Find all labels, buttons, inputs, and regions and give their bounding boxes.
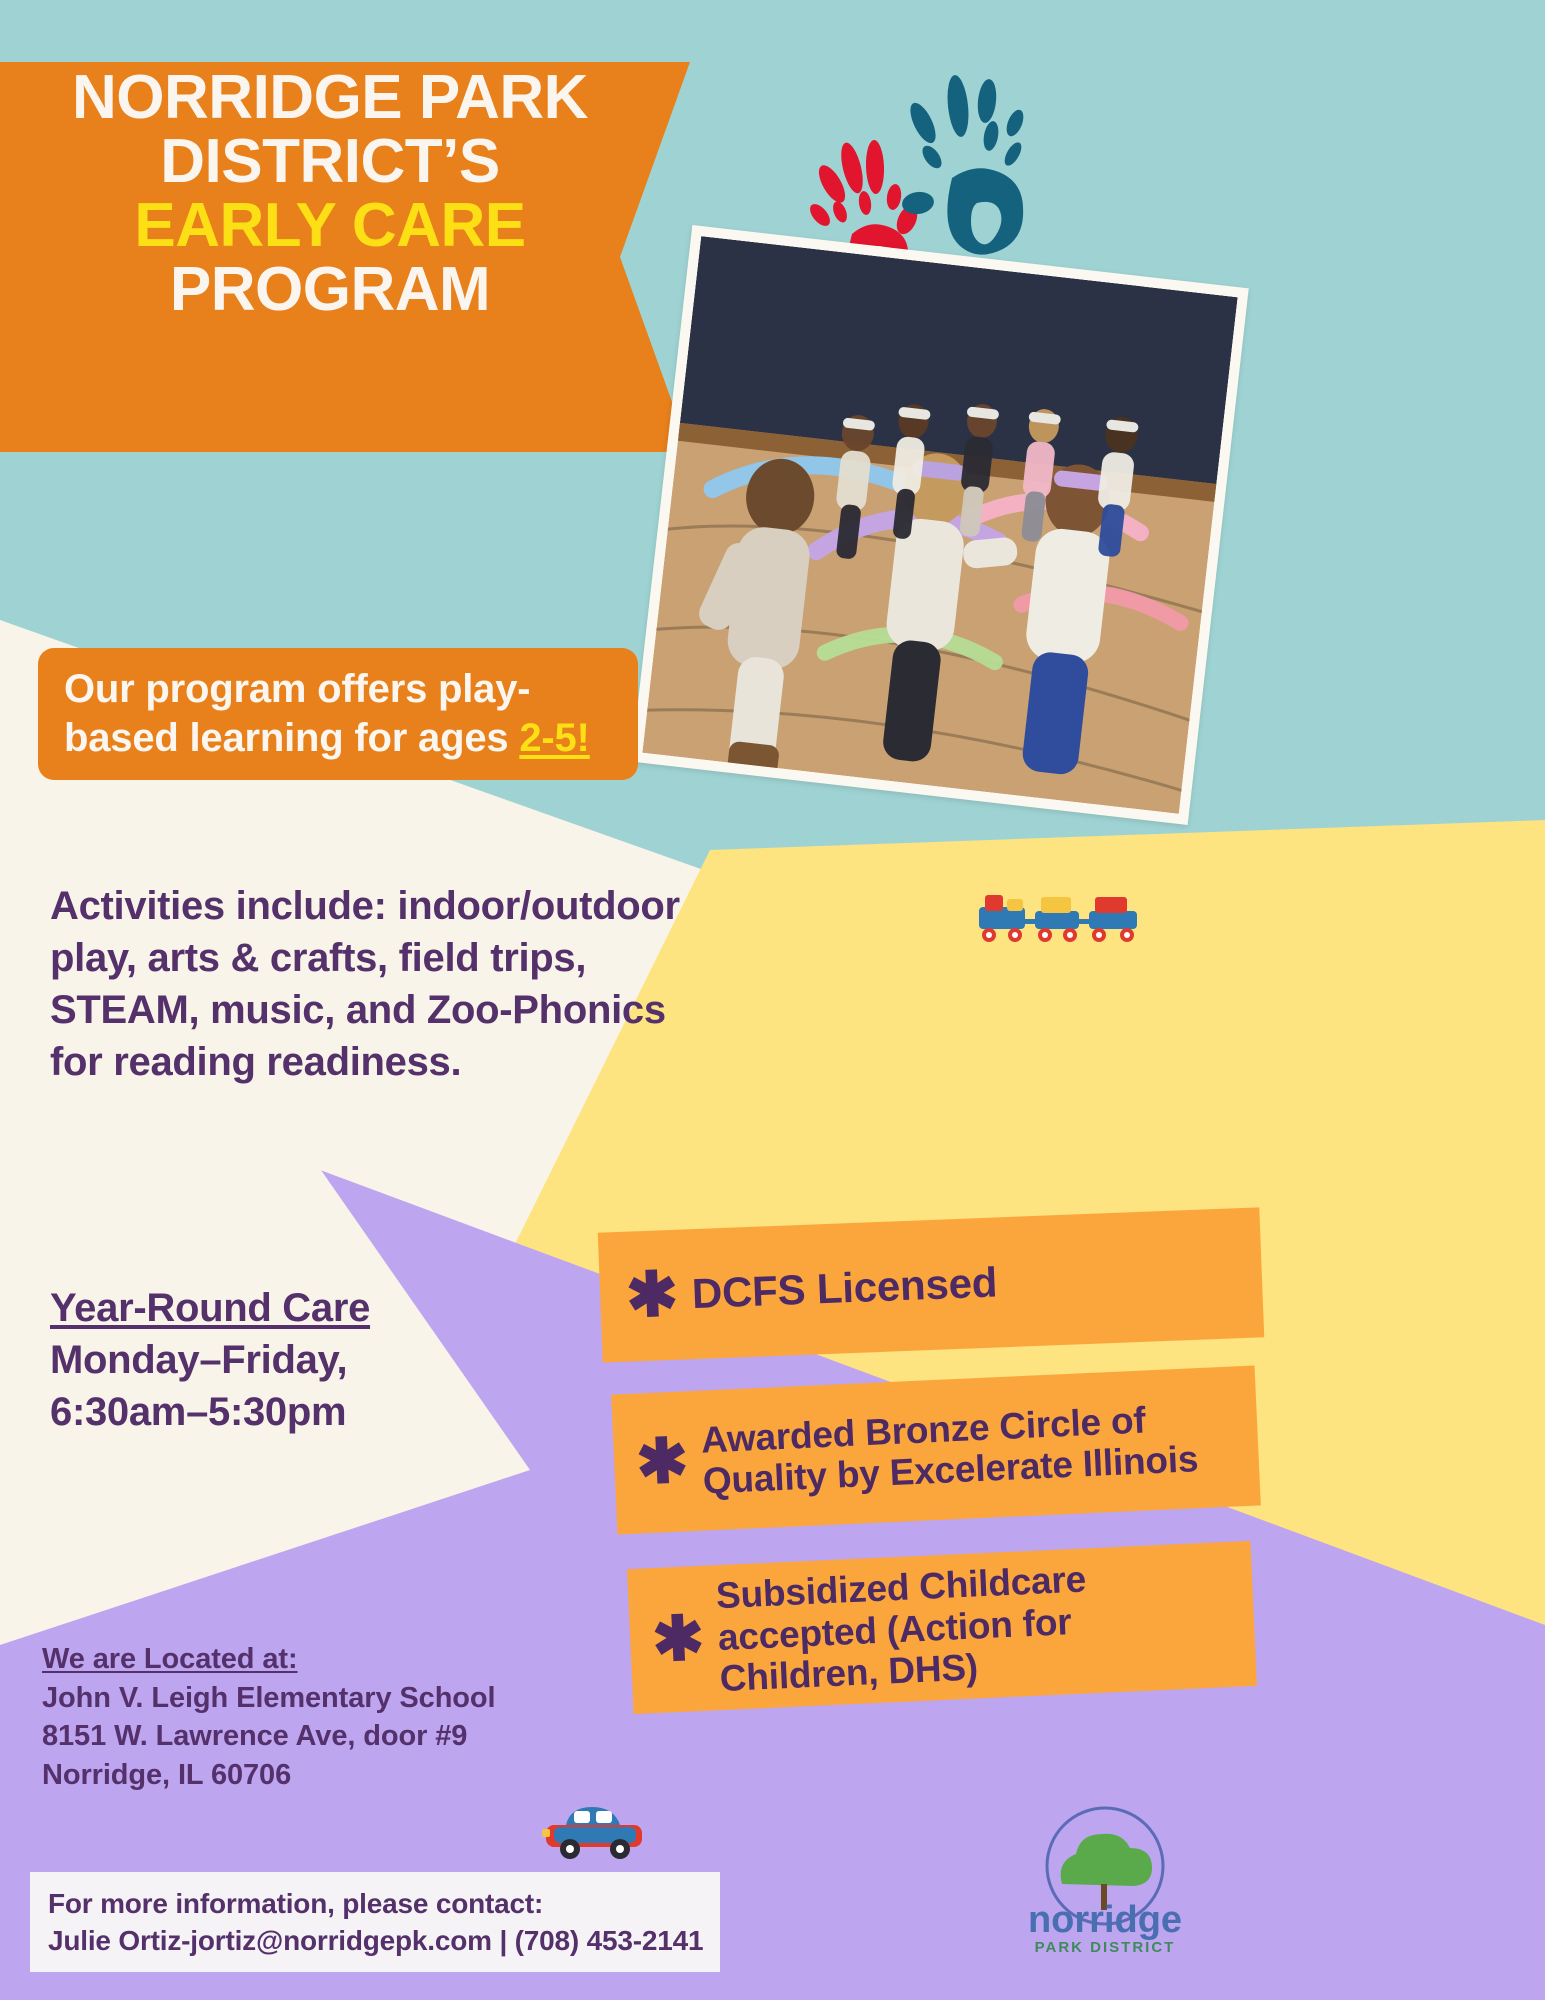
- location-line-1: John V. Leigh Elementary School: [42, 1682, 496, 1714]
- activities-paragraph: Activities include: indoor/outdoor play,…: [50, 880, 710, 1088]
- hours-times: 6:30am–5:30pm: [50, 1390, 346, 1434]
- callout-age-range: 2-5!: [519, 716, 589, 760]
- toy-train-icon: [975, 885, 1185, 945]
- asterisk-icon: ✱: [635, 1443, 688, 1482]
- page-title: NORRIDGE PARK DISTRICT’S EARLY CARE PROG…: [0, 66, 660, 321]
- location-block: We are Located at: John V. Leigh Element…: [42, 1640, 562, 1794]
- contact-bar: For more information, please contact: Ju…: [30, 1872, 720, 1972]
- contact-line-1: For more information, please contact:: [48, 1885, 720, 1922]
- logo-subtitle: PARK DISTRICT: [1035, 1939, 1176, 1956]
- badge-bronze-circle: ✱ Awarded Bronze Circle of Quality by Ex…: [611, 1365, 1261, 1534]
- asterisk-icon: ✱: [651, 1620, 704, 1659]
- location-line-2: 8151 W. Lawrence Ave, door #9: [42, 1720, 467, 1752]
- norridge-park-district-logo: norridge PARK DISTRICT: [1000, 1800, 1210, 1960]
- hours-block: Year-Round Care Monday–Friday, 6:30am–5:…: [50, 1282, 570, 1438]
- title-line-2: DISTRICT’S: [0, 130, 660, 194]
- callout-text: Our program offers play-based learning f…: [38, 665, 638, 763]
- contact-line-2: Julie Ortiz-jortiz@norridgepk.com | (708…: [48, 1922, 720, 1959]
- badge-label: Subsidized Childcare accepted (Action fo…: [715, 1552, 1234, 1700]
- location-title: We are Located at:: [42, 1640, 562, 1679]
- location-line-3: Norridge, IL 60706: [42, 1759, 291, 1791]
- children-playing-photo: [631, 225, 1249, 825]
- title-line-1: NORRIDGE PARK: [0, 66, 660, 130]
- hours-days: Monday–Friday,: [50, 1338, 347, 1382]
- hours-title: Year-Round Care: [50, 1282, 570, 1334]
- title-line-4: PROGRAM: [0, 258, 660, 322]
- badge-label: DCFS Licensed: [691, 1259, 998, 1317]
- callout-main: Our program offers play-based learning f…: [64, 667, 530, 760]
- toy-car-icon: [540, 1795, 650, 1865]
- logo-name: norridge: [1028, 1899, 1182, 1941]
- badge-label: Awarded Bronze Circle of Quality by Exce…: [700, 1395, 1237, 1502]
- badge-dcfs-licensed: ✱ DCFS Licensed: [598, 1207, 1265, 1362]
- flyer-canvas: NORRIDGE PARK DISTRICT’S EARLY CARE PROG…: [0, 0, 1545, 2000]
- badge-subsidized-childcare: ✱ Subsidized Childcare accepted (Action …: [627, 1541, 1257, 1714]
- title-line-3: EARLY CARE: [0, 194, 660, 258]
- program-callout: Our program offers play-based learning f…: [38, 648, 638, 780]
- asterisk-icon: ✱: [626, 1276, 679, 1315]
